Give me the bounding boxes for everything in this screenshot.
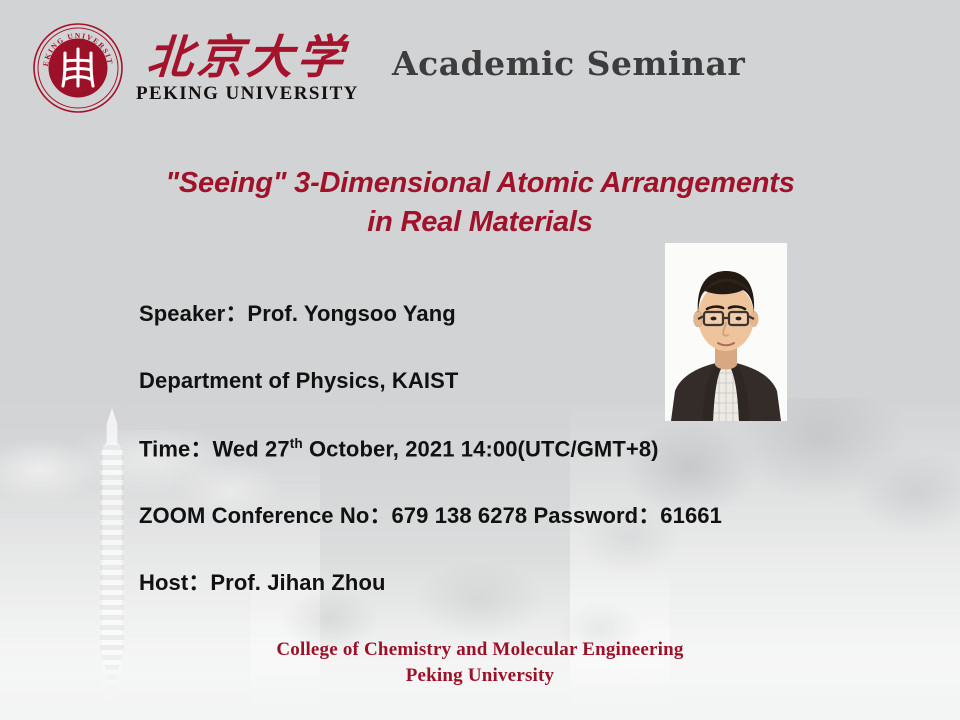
poster-footer: College of Chemistry and Molecular Engin…: [0, 637, 960, 689]
wordmark-chinese: 北京大学: [146, 34, 349, 80]
wordmark-english: PEKING UNIVERSITY: [136, 84, 359, 103]
seminar-poster: PEKING UNIVERSITY 1898: [0, 0, 960, 720]
poster-header: PEKING UNIVERSITY 1898: [0, 0, 960, 128]
footer-university: Peking University: [0, 663, 960, 689]
detail-time-suffix: October, 2021 14:00(UTC/GMT+8): [303, 436, 659, 461]
seminar-details: Speaker：Prof. Yongsoo Yang Department of…: [139, 303, 879, 594]
detail-time: Time：Wed 27th October, 2021 14:00(UTC/GM…: [139, 437, 879, 460]
peking-university-logo: PEKING UNIVERSITY 1898: [32, 22, 359, 114]
talk-title-line-2: in Real Materials: [60, 203, 900, 242]
detail-affiliation: Department of Physics, KAIST: [139, 370, 879, 392]
detail-speaker: Speaker：Prof. Yongsoo Yang: [139, 303, 879, 325]
university-wordmark: 北京大学 PEKING UNIVERSITY: [136, 34, 359, 103]
header-title: Academic Seminar: [392, 44, 745, 83]
detail-zoom-conference: ZOOM Conference No：679 138 6278 Password…: [139, 505, 879, 527]
talk-title-line-1: "Seeing" 3-Dimensional Atomic Arrangemen…: [60, 164, 900, 203]
talk-title: "Seeing" 3-Dimensional Atomic Arrangemen…: [60, 164, 900, 241]
detail-time-prefix: Time：Wed 27: [139, 436, 290, 461]
university-seal-icon: PEKING UNIVERSITY 1898: [32, 22, 124, 114]
detail-time-ordinal: th: [290, 436, 303, 451]
detail-host: Host：Prof. Jihan Zhou: [139, 572, 879, 594]
footer-college: College of Chemistry and Molecular Engin…: [0, 637, 960, 663]
